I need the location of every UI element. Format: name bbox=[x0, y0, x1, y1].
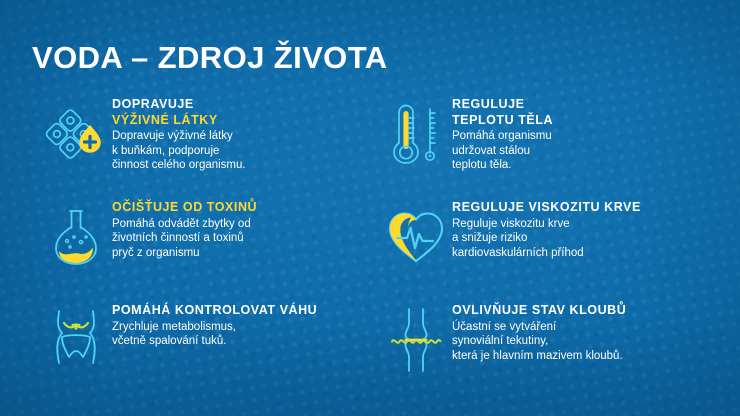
benefit-text: REGULUJE TEPLOTU TĚLA Pomáhá organismu u… bbox=[452, 95, 730, 173]
benefit-body: Účastní se vytváření synoviální tekutiny… bbox=[452, 320, 730, 364]
benefit-body-line: k buňkám, podporuje bbox=[112, 144, 390, 159]
benefit-text: REGULUJE VISKOZITU KRVE Reguluje viskozi… bbox=[452, 198, 730, 260]
benefit-text: DOPRAVUJE VÝŽIVNÉ LÁTKY Dopravuje výživn… bbox=[112, 95, 390, 173]
benefit-body-line: životních činností a toxinů bbox=[112, 231, 390, 246]
thermometer-icon bbox=[380, 95, 452, 173]
benefit-item-weight: POMÁHÁ KONTROLOVAT VÁHU Zrychluje metabo… bbox=[40, 301, 390, 404]
benefit-heading-line2: TEPLOTU TĚLA bbox=[452, 113, 730, 129]
benefit-body: Pomáhá organismu udržovat stálou teplotu… bbox=[452, 129, 730, 173]
benefit-heading-line1: REGULUJE bbox=[452, 97, 730, 113]
benefit-body-line: Dopravuje výživné látky bbox=[112, 129, 390, 144]
benefit-body-line: udržovat stálou bbox=[452, 144, 730, 159]
benefit-heading-line1: DOPRAVUJE bbox=[112, 97, 390, 113]
benefit-item-temperature: REGULUJE TEPLOTU TĚLA Pomáhá organismu u… bbox=[380, 95, 730, 198]
infographic-slide: VODA – ZDROJ ŽIVOTA bbox=[0, 0, 740, 416]
left-column: DOPRAVUJE VÝŽIVNÉ LÁTKY Dopravuje výživn… bbox=[40, 95, 390, 404]
benefit-item-joints: OVLIVŇUJE STAV KLOUBŮ Účastní se vytváře… bbox=[380, 301, 730, 404]
page-title: VODA – ZDROJ ŽIVOTA bbox=[32, 40, 388, 76]
benefit-heading-line1: OČIŠŤUJE OD TOXINŮ bbox=[112, 200, 390, 216]
benefit-body-line: činnost celého organismu. bbox=[112, 158, 390, 173]
benefit-item-blood-viscosity: REGULUJE VISKOZITU KRVE Reguluje viskozi… bbox=[380, 198, 730, 301]
benefit-body-line: Účastní se vytváření bbox=[452, 320, 730, 335]
right-column: REGULUJE TEPLOTU TĚLA Pomáhá organismu u… bbox=[380, 95, 730, 404]
flask-icon bbox=[40, 198, 112, 276]
waistline-icon bbox=[40, 301, 112, 379]
benefit-body-line: a snižuje riziko bbox=[452, 231, 730, 246]
benefit-heading-line1: OVLIVŇUJE STAV KLOUBŮ bbox=[452, 303, 730, 319]
benefit-item-nutrients: DOPRAVUJE VÝŽIVNÉ LÁTKY Dopravuje výživn… bbox=[40, 95, 390, 198]
benefit-body-line: synoviální tekutiny, bbox=[452, 334, 730, 349]
benefit-body-line: Pomáhá odvádět zbytky od bbox=[112, 217, 390, 232]
benefit-heading-line1: POMÁHÁ KONTROLOVAT VÁHU bbox=[112, 303, 390, 319]
benefit-item-detox: OČIŠŤUJE OD TOXINŮ Pomáhá odvádět zbytky… bbox=[40, 198, 390, 301]
benefit-body: Dopravuje výživné látky k buňkám, podpor… bbox=[112, 129, 390, 173]
benefit-body: Zrychluje metabolismus, včetně spalování… bbox=[112, 320, 390, 349]
benefit-body-line: kardiovaskulárních příhod bbox=[452, 246, 730, 261]
benefit-body-line: Zrychluje metabolismus, bbox=[112, 320, 390, 335]
benefit-heading-line1: REGULUJE VISKOZITU KRVE bbox=[452, 200, 730, 216]
nutrient-cells-drop-icon bbox=[40, 95, 112, 173]
benefit-body-line: včetně spalování tuků. bbox=[112, 334, 390, 349]
benefit-text: OVLIVŇUJE STAV KLOUBŮ Účastní se vytváře… bbox=[452, 301, 730, 363]
benefit-body: Reguluje viskozitu krve a snižuje riziko… bbox=[452, 217, 730, 261]
benefit-body-line: Pomáhá organismu bbox=[452, 129, 730, 144]
benefit-text: OČIŠŤUJE OD TOXINŮ Pomáhá odvádět zbytky… bbox=[112, 198, 390, 260]
benefit-body-line: která je hlavním mazivem kloubů. bbox=[452, 349, 730, 364]
benefit-body: Pomáhá odvádět zbytky od životních činno… bbox=[112, 217, 390, 261]
joint-icon bbox=[380, 301, 452, 379]
benefit-body-line: teplotu těla. bbox=[452, 158, 730, 173]
benefit-text: POMÁHÁ KONTROLOVAT VÁHU Zrychluje metabo… bbox=[112, 301, 390, 349]
heart-pulse-icon bbox=[380, 198, 452, 276]
benefit-body-line: pryč z organismu bbox=[112, 246, 390, 261]
benefit-body-line: Reguluje viskozitu krve bbox=[452, 217, 730, 232]
benefit-heading-line2: VÝŽIVNÉ LÁTKY bbox=[112, 113, 390, 129]
